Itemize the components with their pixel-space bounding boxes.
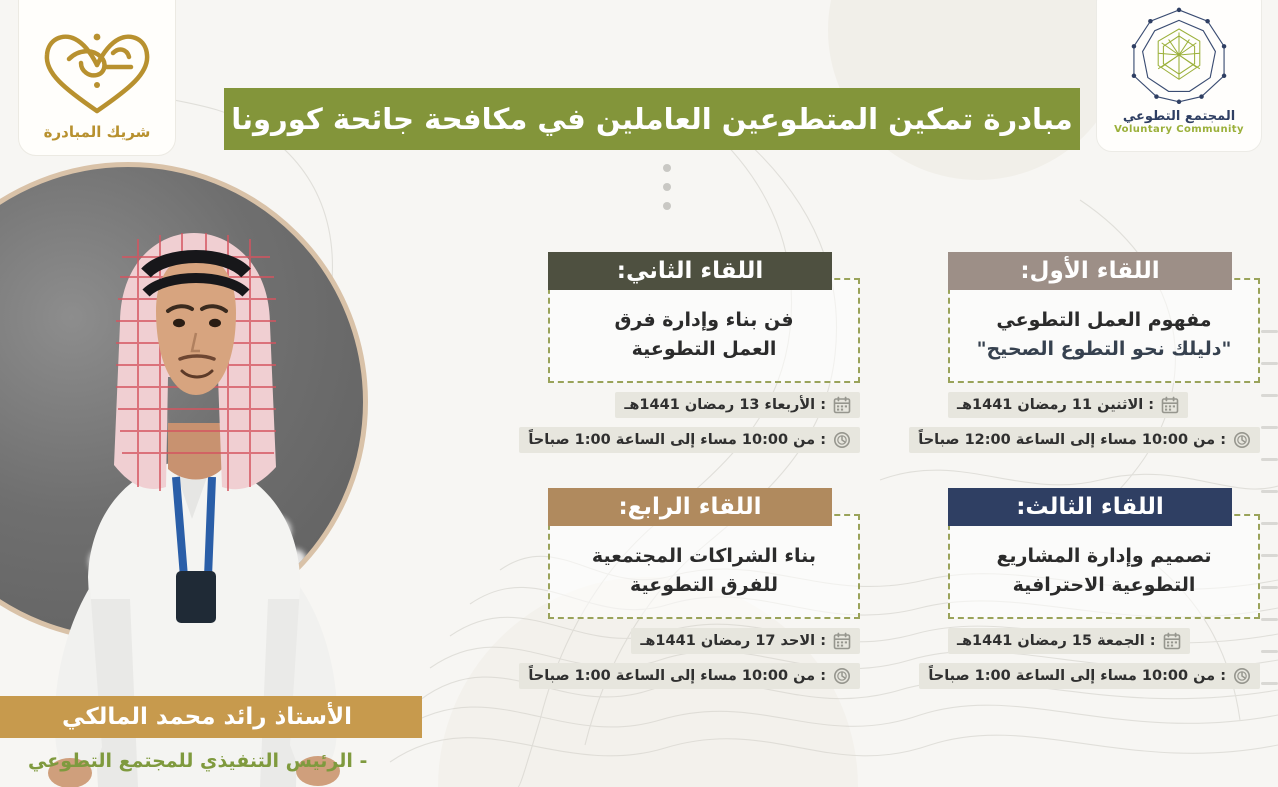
heart-calligraphy-logo xyxy=(35,23,159,119)
calendar-icon xyxy=(833,396,851,414)
session-time-row: : من 10:00 مساء إلى الساعة 1:00 صباحاً xyxy=(519,663,860,689)
session-body: فن بناء وإدارة فرق العمل التطوعية xyxy=(548,278,860,383)
session-card-2: اللقاء الثاني: فن بناء وإدارة فرق العمل … xyxy=(548,252,860,453)
brand-logo-card: المجتمع التطوعي Voluntary Community xyxy=(1096,0,1262,152)
speaker-name: الأستاذ رائد محمد المالكي xyxy=(62,704,352,730)
session-time-row: : من 10:00 مساء إلى الساعة 1:00 صباحاً xyxy=(519,427,860,453)
session-card-3: اللقاء الثالث: تصميم وإدارة المشاريع الت… xyxy=(948,488,1260,689)
session-time-text: : من 10:00 مساء إلى الساعة 1:00 صباحاً xyxy=(528,668,826,684)
three-dots-decoration xyxy=(663,164,671,221)
session-time-text: : من 10:00 مساء إلى الساعة 12:00 صباحاً xyxy=(918,432,1226,448)
speaker-role: - الرئيس التنفيذي للمجتمع التطوعي xyxy=(28,750,367,772)
session-body: مفهوم العمل التطوعي "دليلك نحو التطوع ال… xyxy=(948,278,1260,383)
partner-label: شريك المبادرة xyxy=(44,123,151,141)
session-date-row: : الأربعاء 13 رمضان 1441هـ xyxy=(615,392,860,418)
partner-logo-card: شريك المبادرة xyxy=(18,0,176,156)
clock-icon xyxy=(1233,667,1251,685)
session-time-row: : من 10:00 مساء إلى الساعة 12:00 صباحاً xyxy=(909,427,1260,453)
session-time-text: : من 10:00 مساء إلى الساعة 1:00 صباحاً xyxy=(528,432,826,448)
session-card-4: اللقاء الرابع: بناء الشراكات المجتمعية ل… xyxy=(548,488,860,689)
session-date-text: : الأربعاء 13 رمضان 1441هـ xyxy=(624,397,826,413)
session-date-text: : الجمعة 15 رمضان 1441هـ xyxy=(957,633,1156,649)
speaker-portrait xyxy=(0,147,390,787)
session-line-2: العمل التطوعية xyxy=(568,335,840,364)
session-line-2: التطوعية الاحترافية xyxy=(968,571,1240,600)
calendar-icon xyxy=(1163,632,1181,650)
calendar-icon xyxy=(1161,396,1179,414)
session-heading: اللقاء الرابع: xyxy=(548,488,832,526)
clock-icon xyxy=(833,667,851,685)
clock-icon xyxy=(1233,431,1251,449)
session-line-2: للفرق التطوعية xyxy=(568,571,840,600)
session-heading: اللقاء الأول: xyxy=(948,252,1232,290)
session-line-1: مفهوم العمل التطوعي xyxy=(968,306,1240,335)
session-heading: اللقاء الثاني: xyxy=(548,252,832,290)
speaker-name-banner: الأستاذ رائد محمد المالكي xyxy=(0,696,422,738)
session-body: بناء الشراكات المجتمعية للفرق التطوعية xyxy=(548,514,860,619)
session-line-1: بناء الشراكات المجتمعية xyxy=(568,542,840,571)
session-heading: اللقاء الثالث: xyxy=(948,488,1232,526)
brand-name-english: Voluntary Community xyxy=(1114,124,1244,135)
brand-name-arabic: المجتمع التطوعي xyxy=(1123,109,1235,124)
session-line-1: فن بناء وإدارة فرق xyxy=(568,306,840,335)
session-card-1: اللقاء الأول: مفهوم العمل التطوعي "دليلك… xyxy=(948,252,1260,453)
session-date-row: : الاثنين 11 رمضان 1441هـ xyxy=(948,392,1188,418)
session-date-row: : الجمعة 15 رمضان 1441هـ xyxy=(948,628,1190,654)
poster-canvas: شريك المبادرة المجتمع التطوعي V xyxy=(0,0,1278,787)
page-title: مبادرة تمكين المتطوعين العاملين في مكافح… xyxy=(231,102,1073,136)
session-line-1: تصميم وإدارة المشاريع xyxy=(968,542,1240,571)
session-time-text: : من 10:00 مساء إلى الساعة 1:00 صباحاً xyxy=(928,668,1226,684)
calendar-icon xyxy=(833,632,851,650)
session-body: تصميم وإدارة المشاريع التطوعية الاحترافي… xyxy=(948,514,1260,619)
session-time-row: : من 10:00 مساء إلى الساعة 1:00 صباحاً xyxy=(919,663,1260,689)
session-date-text: : الاثنين 11 رمضان 1441هـ xyxy=(957,397,1154,413)
clock-icon xyxy=(833,431,851,449)
session-date-text: : الاحد 17 رمضان 1441هـ xyxy=(640,633,826,649)
title-banner: مبادرة تمكين المتطوعين العاملين في مكافح… xyxy=(224,88,1080,150)
session-line-2: "دليلك نحو التطوع الصحيح" xyxy=(968,335,1240,364)
session-date-row: : الاحد 17 رمضان 1441هـ xyxy=(631,628,860,654)
geometric-star-polygon-logo xyxy=(1127,3,1231,107)
